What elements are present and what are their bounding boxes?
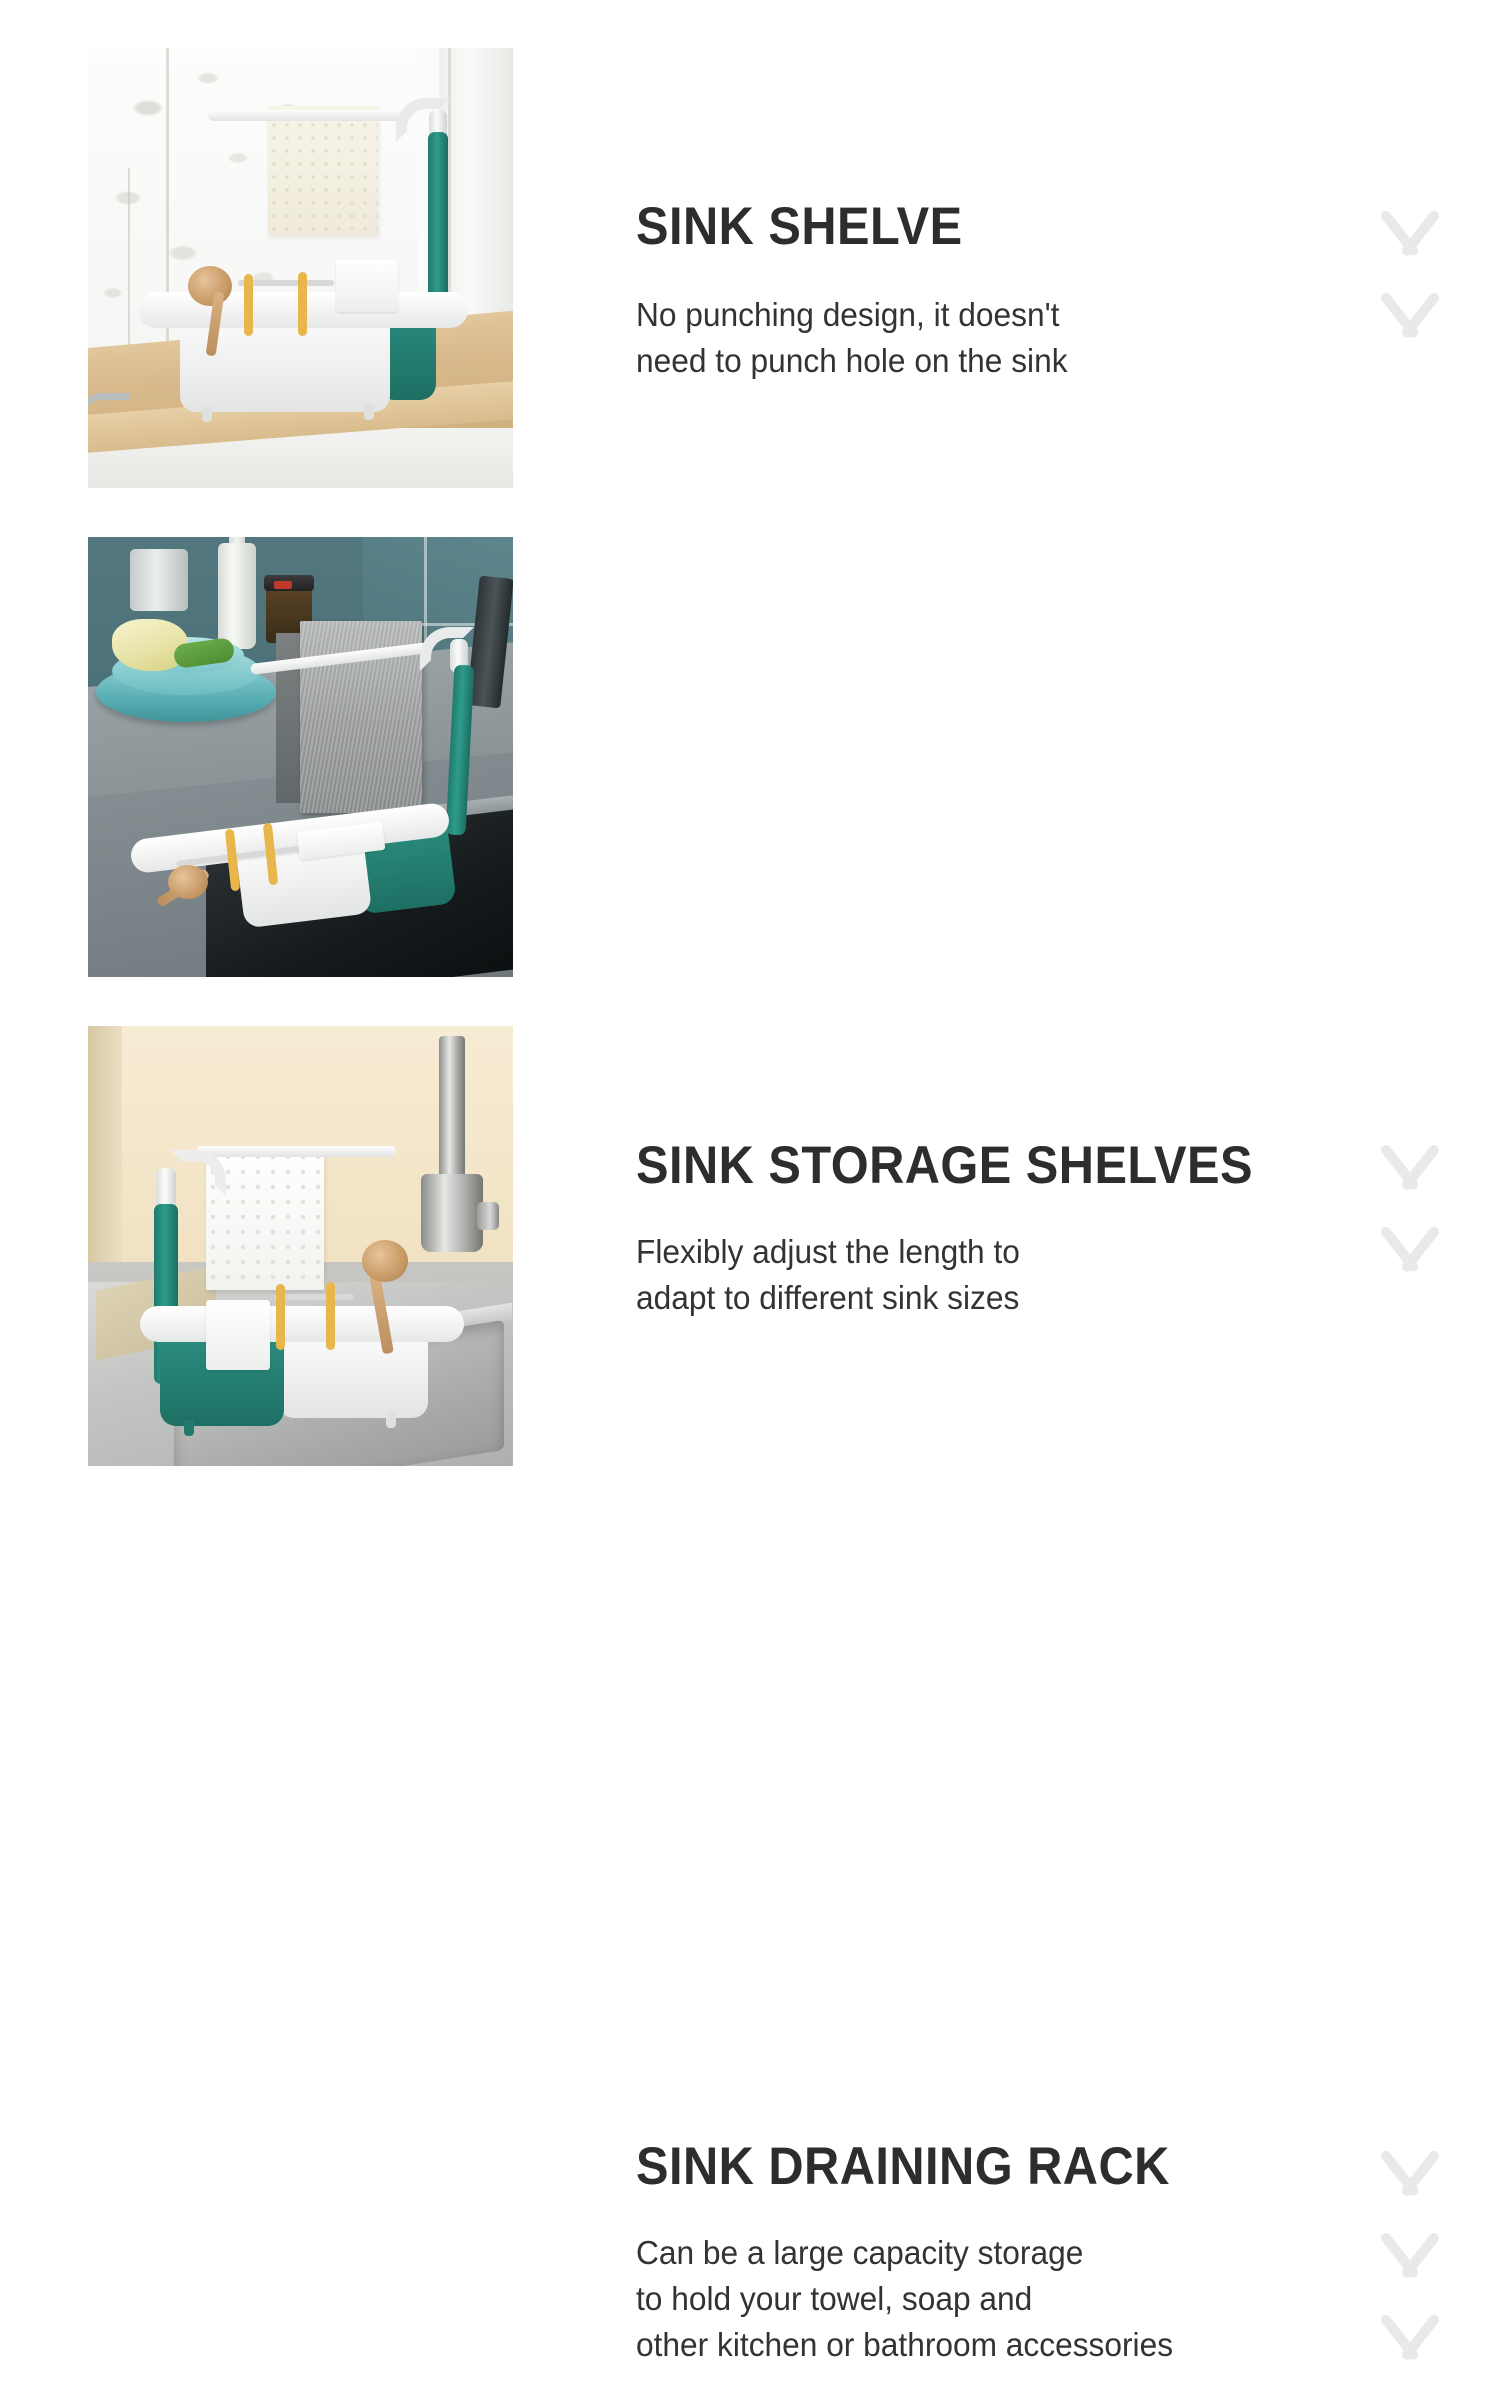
yellow-hook-2 [326, 1282, 335, 1350]
body-line: Can be a large capacity storage [636, 2234, 1083, 2271]
body-line: other kitchen or bathroom accessories [636, 2326, 1173, 2363]
rack-foot-2 [364, 404, 374, 420]
product-photo-2 [88, 537, 513, 977]
section-title-1: SINK SHELVE [636, 198, 1308, 256]
chevron-group-3 [1368, 2148, 1468, 2394]
body-line: No punching design, it doesn't [636, 296, 1059, 333]
chevron-group-1 [1368, 208, 1468, 372]
feature-row-sink-storage-shelves: SINK STORAGE SHELVES Flexibly adjust the… [0, 537, 1500, 977]
wooden-brush-head [362, 1240, 408, 1282]
wooden-brush-head [188, 266, 232, 306]
sink-caddy-rack-1 [128, 70, 488, 440]
feature-row-sink-shelve: SINK SHELVE No punching design, it doesn… [0, 48, 1500, 488]
rack-drip-tray [140, 1306, 464, 1342]
yellow-hook-1 [276, 1284, 285, 1350]
product-infographic-page: SINK SHELVE No punching design, it doesn… [0, 0, 1500, 1500]
rack-rail [274, 1294, 354, 1300]
chevron-down-icon [1368, 290, 1452, 336]
body-line: to hold your towel, soap and [636, 2280, 1032, 2317]
rack-foot-1 [184, 1420, 194, 1436]
section-body-3: Can be a large capacity storage to hold … [636, 2230, 1337, 2368]
feature-text-block-1: SINK SHELVE No punching design, it doesn… [636, 198, 1366, 384]
feature-text-block-3: SINK DRAINING RACK Can be a large capaci… [636, 2138, 1366, 2368]
chevron-down-icon [1368, 2312, 1452, 2358]
wooden-brush-head [168, 865, 208, 899]
product-photo-1 [88, 48, 513, 488]
sink-caddy-rack-3 [118, 1084, 488, 1434]
sauce-jar-label [274, 581, 292, 589]
body-line: need to punch hole on the sink [636, 342, 1068, 379]
white-sponge [206, 1300, 270, 1370]
yellow-hook-1 [244, 274, 253, 336]
section-body-1: No punching design, it doesn't need to p… [636, 292, 1337, 384]
chevron-down-icon [1368, 2230, 1452, 2276]
towel-bar [208, 110, 408, 121]
rack-post-teal [428, 132, 448, 312]
yellow-hook-2 [298, 272, 307, 336]
sink-caddy-rack-2 [120, 615, 490, 945]
towel-bar [196, 1146, 396, 1157]
chevron-down-icon [1368, 2148, 1452, 2194]
rack-post-teal [446, 665, 475, 836]
rack-foot-2 [386, 1412, 396, 1428]
white-sponge [336, 260, 398, 312]
rack-foot-1 [202, 406, 212, 422]
feature-row-sink-draining-rack: SINK DRAINING RACK Can be a large capaci… [0, 1026, 1500, 1466]
chevron-down-icon [1368, 208, 1452, 254]
hanging-towel-cream [268, 106, 378, 236]
faucet-arc [88, 393, 129, 470]
section-title-3: SINK DRAINING RACK [636, 2138, 1308, 2196]
product-photo-3 [88, 1026, 513, 1466]
rack-body-white [278, 1332, 428, 1418]
paper-towel-box [130, 549, 188, 611]
